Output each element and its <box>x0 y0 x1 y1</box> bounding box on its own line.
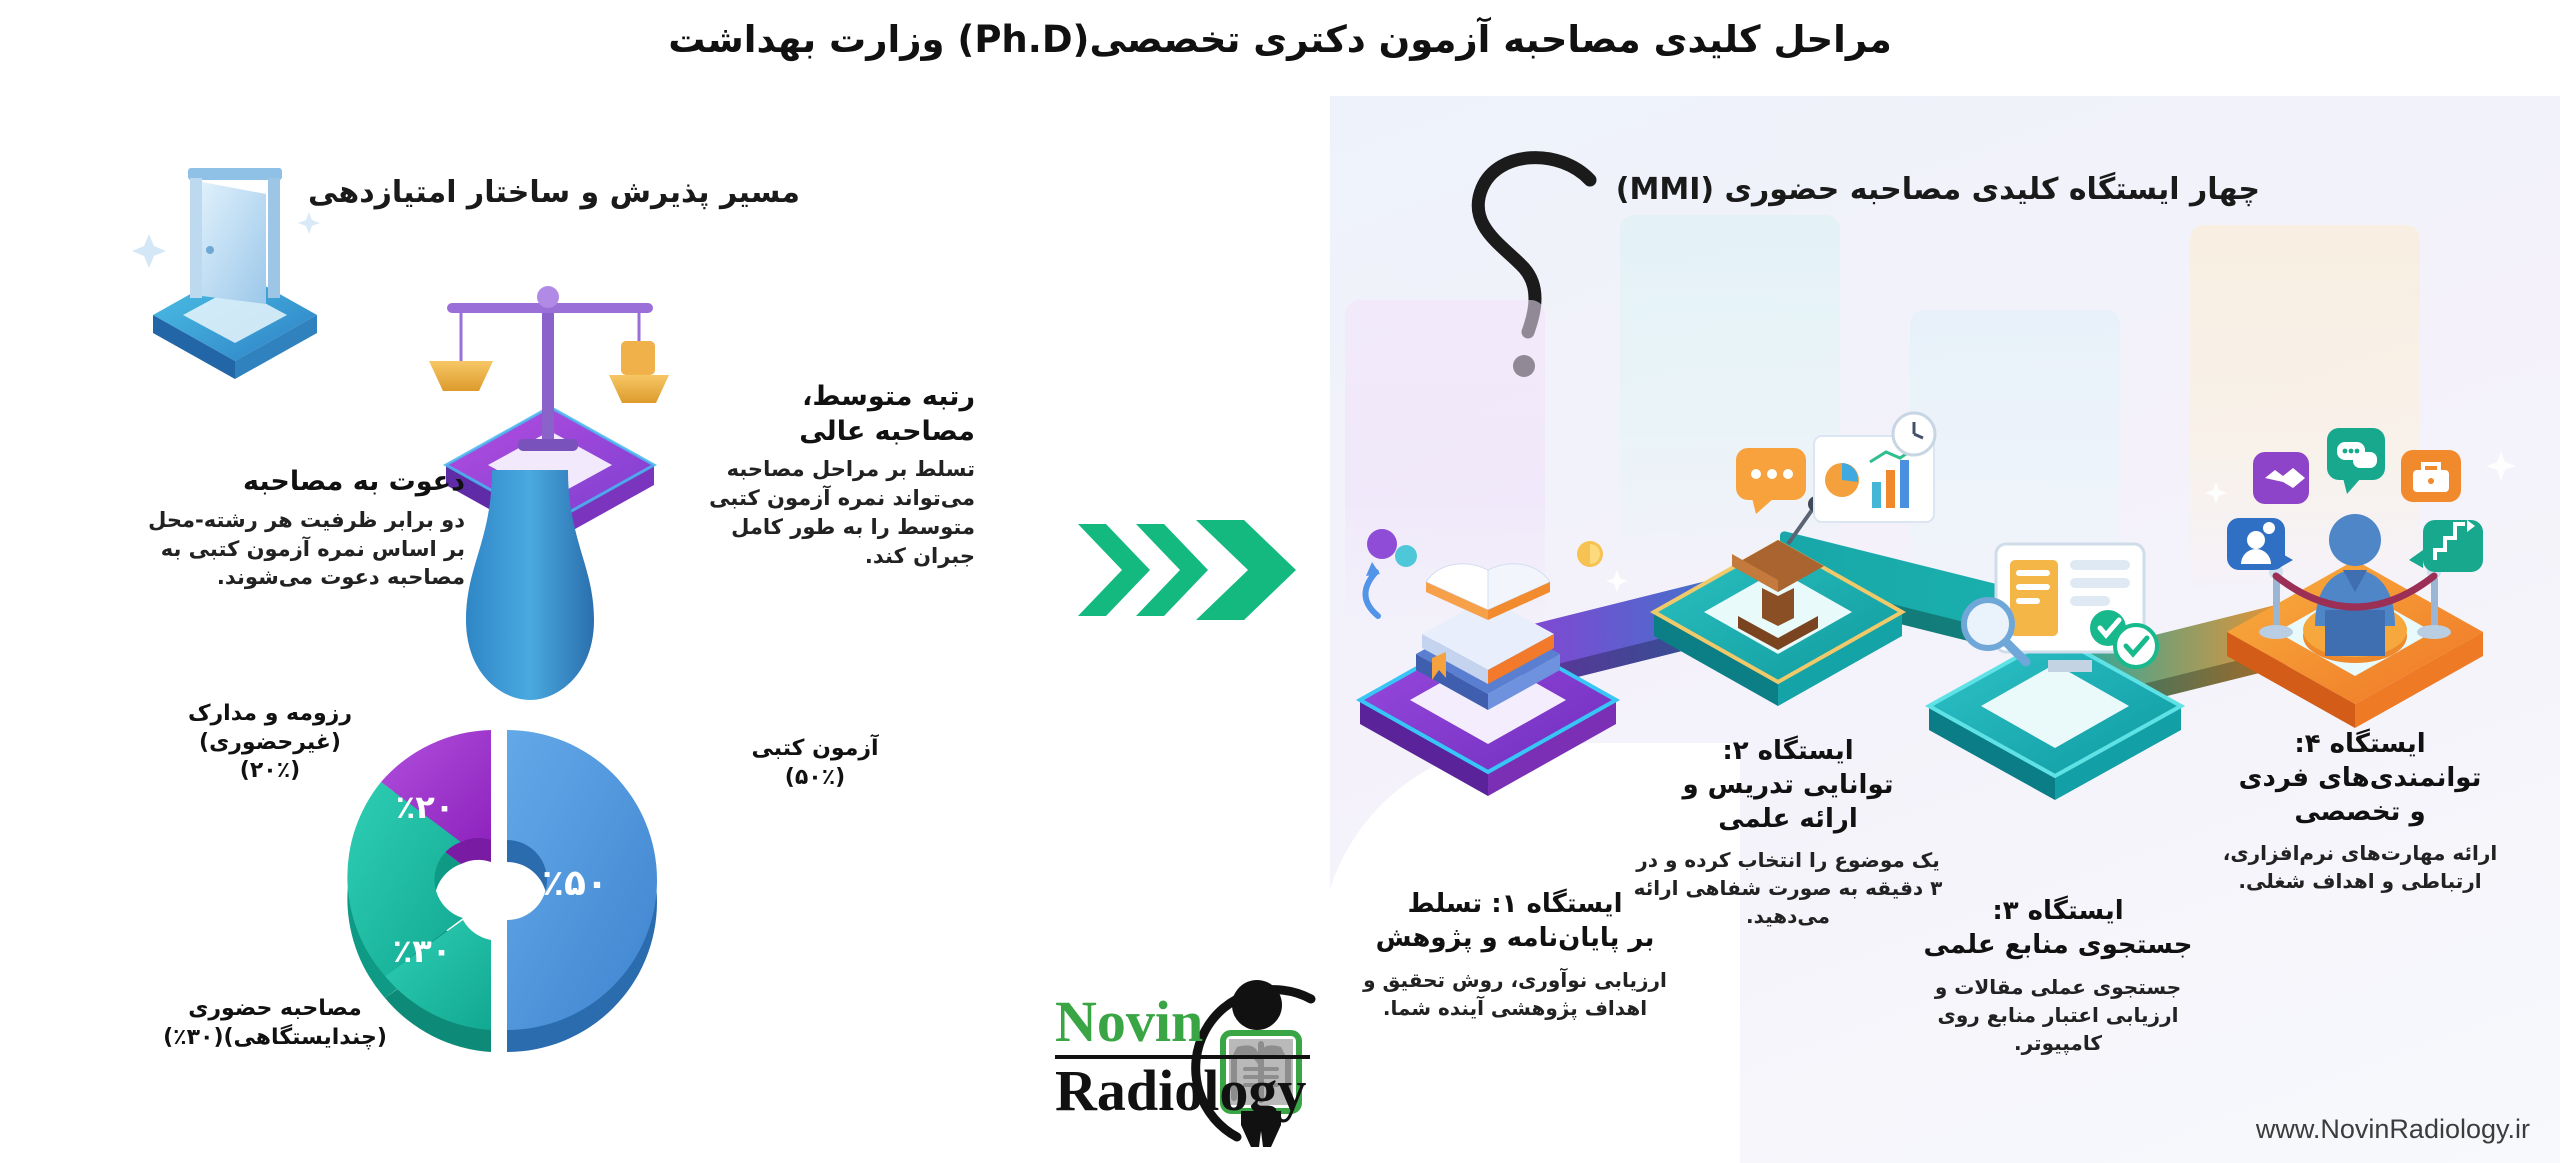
invite-body: دو برابر ظرفیت هر رشته-محل بر اساس نمره … <box>135 506 465 593</box>
pie-label-resume: رزومه و مدارک (غیرحضوری) (۲۰٪) <box>120 700 420 786</box>
pie-label-written-line2: (۵۰٪) <box>700 764 930 793</box>
pie-label-written-line1: آزمون کتبی <box>700 735 930 764</box>
pie-value-resume: ٪۲۰ <box>396 788 455 826</box>
logo-name-bottom: Radiology <box>1055 1061 1345 1122</box>
station-4-text: ایستگاه ۴: توانمندی‌های فردی و تخصصی ارا… <box>2200 728 2520 895</box>
station-1-body: ارزیابی نوآوری، روش تحقیق و اهداف پژوهشی… <box>1360 966 1670 1022</box>
pie-label-interview: مصاحبه حضوری (چندایستگاهی)(۳۰٪) <box>110 995 440 1052</box>
station-4-heading-line2: توانمندی‌های فردی <box>2200 762 2520 796</box>
website-url[interactable]: www.NovinRadiology.ir <box>2256 1114 2530 1145</box>
novin-radiology-logo: Novin Radiology <box>880 975 1340 1150</box>
station-2-body: یک موضوع را انتخاب کرده و در ۳ دقیقه به … <box>1628 846 1948 930</box>
section-heading-mmi: چهار ایستگاه کلیدی مصاحبه حضوری (MMI) <box>1616 172 2260 207</box>
station-4-heading-line1: ایستگاه ۴: <box>2200 728 2520 762</box>
station-2-heading-line3: ارائه علمی <box>1628 803 1948 837</box>
doorway-illustration <box>120 150 350 380</box>
forward-chevrons-icon <box>1078 510 1308 630</box>
station-3-platform-computer <box>1900 520 2230 820</box>
block-rank-vs-interview: رتبه متوسط، مصاحبه عالی تسلط بر مراحل مص… <box>675 380 975 571</box>
station-4-body: ارائه مهارت‌های نرم‌افزاری، ارتباطی و اه… <box>2200 839 2520 895</box>
pie-value-interview: ٪۳۰ <box>393 932 452 970</box>
station-2-heading-line2: توانایی تدریس و <box>1628 769 1948 803</box>
station-2-heading-line1: ایستگاه ۲: <box>1628 735 1948 769</box>
infographic-canvas: مراحل کلیدی مصاحبه آزمون دکتری تخصصی(Ph.… <box>0 0 2560 1163</box>
pie-label-written: آزمون کتبی (۵۰٪) <box>700 735 930 792</box>
station-4-heading-line3: و تخصصی <box>2200 796 2520 830</box>
invite-heading: دعوت به مصاحبه <box>135 465 465 500</box>
station-1-heading-line2: بر پایان‌نامه و پژوهش <box>1360 922 1670 956</box>
station-3-text: ایستگاه ۳: جستجوی منابع علمی جستجوی عملی… <box>1908 895 2208 1057</box>
station-4-platform-interview <box>2195 400 2525 730</box>
rank-body: تسلط بر مراحل مصاحبه می‌تواند نمره آزمون… <box>675 455 975 571</box>
station-2-platform-podium <box>1618 400 1948 720</box>
station-3-heading-line1: ایستگاه ۳: <box>1908 895 2208 929</box>
logo-name-top: Novin <box>1055 993 1345 1051</box>
station-3-heading-line2: جستجوی منابع علمی <box>1908 929 2208 963</box>
station-2-text: ایستگاه ۲: توانایی تدریس و ارائه علمی یک… <box>1628 735 1948 930</box>
pie-label-resume-line1: رزومه و مدارک <box>120 700 420 729</box>
pie-label-interview-line1: مصاحبه حضوری <box>110 995 440 1024</box>
station-3-body: جستجوی عملی مقالات و ارزیابی اعتبار مناب… <box>1908 973 2208 1057</box>
section-heading-admission: مسیر پذیرش و ساختار امتیازدهی <box>308 175 800 210</box>
block-interview-invitation: دعوت به مصاحبه دو برابر ظرفیت هر رشته-مح… <box>135 465 465 592</box>
pie-label-interview-line2: (چندایستگاهی)(۳۰٪) <box>110 1024 440 1053</box>
rank-heading-line1: رتبه متوسط، <box>675 380 975 415</box>
page-title: مراحل کلیدی مصاحبه آزمون دکتری تخصصی(Ph.… <box>0 18 2560 61</box>
rank-heading-line2: مصاحبه عالی <box>675 415 975 450</box>
station-1-text: ایستگاه ۱: تسلط بر پایان‌نامه و پژوهش ار… <box>1360 888 1670 1022</box>
station-1-heading-line1: ایستگاه ۱: تسلط <box>1360 888 1670 922</box>
pie-label-resume-line2: (غیرحضوری) <box>120 729 420 758</box>
pie-label-resume-line3: (۲۰٪) <box>120 757 420 786</box>
pie-value-written: ٪۵۰ <box>542 863 608 904</box>
